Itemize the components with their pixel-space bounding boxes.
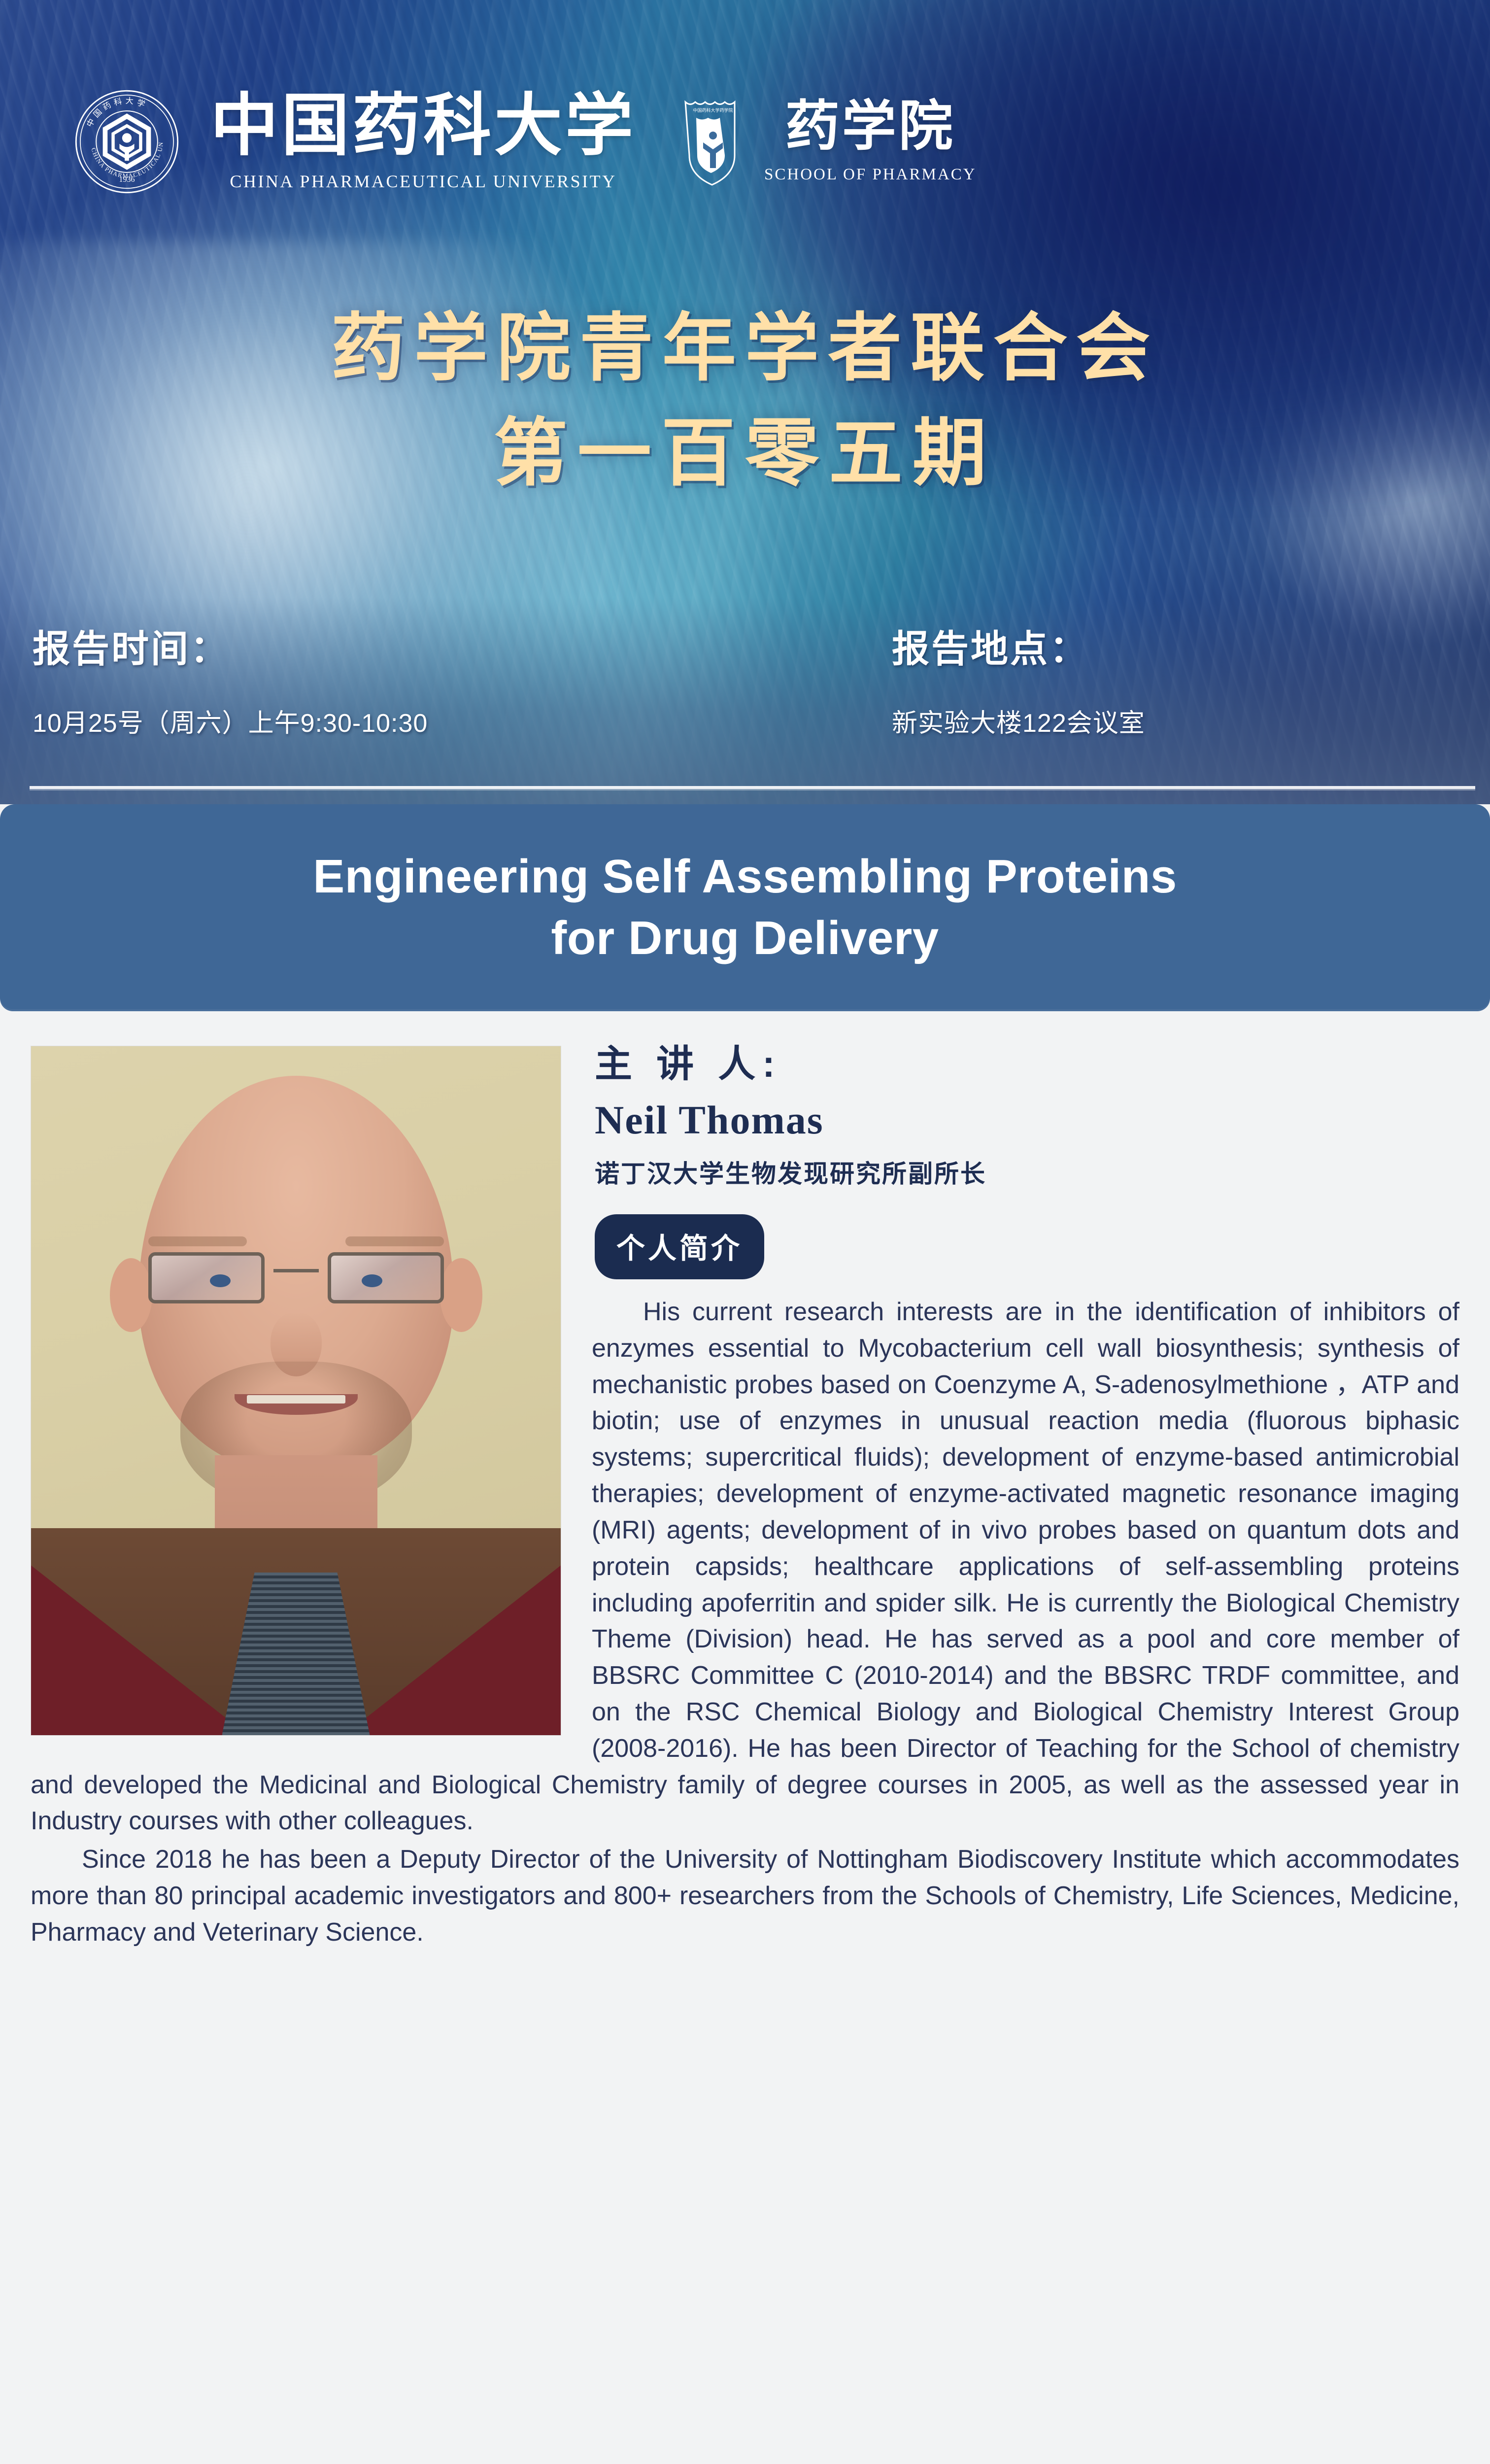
portrait-eye-right	[362, 1274, 382, 1287]
university-name-en: CHINA PHARMACEUTICAL UNIVERSITY	[230, 171, 616, 192]
university-seal-icon: 1936 中 国 药 科 大 学 CHINA PHARMACEUTICAL UN…	[74, 89, 180, 195]
bio-section-badge: 个人简介	[595, 1214, 764, 1279]
university-wordmark: 中国药科大学 CHINA PHARMACEUTICAL UNIVERSITY	[210, 92, 636, 192]
event-place-label: 报告地点：	[892, 618, 1490, 673]
talk-title-line2: for Drug Delivery	[551, 912, 939, 964]
portrait-glasses	[136, 1252, 456, 1305]
series-title-line1: 药学院青年学者联合会	[0, 296, 1490, 401]
event-meta-row: 报告时间： 10月25号（周六）上午9:30-10:30 报告地点： 新实验大楼…	[0, 618, 1490, 739]
school-wordmark: 药学院 SCHOOL OF PHARMACY	[764, 100, 977, 184]
series-title: 药学院青年学者联合会 第一百零五期	[0, 296, 1490, 506]
portrait-lens-right	[328, 1252, 444, 1303]
school-shield-icon: 中国药科大学药学院	[683, 97, 743, 187]
event-place-block: 报告地点： 新实验大楼122会议室	[0, 618, 1490, 739]
school-name-cn: 药学院	[785, 100, 955, 154]
speaker-role-label: 主 讲 人:	[595, 1045, 1459, 1084]
bio-paragraph-2: Since 2018 he has been a Deputy Director…	[31, 1842, 1459, 1951]
header-divider	[30, 786, 1475, 789]
talk-title-line1: Engineering Self Assembling Proteins	[313, 850, 1177, 903]
portrait-teeth	[247, 1395, 345, 1403]
portrait-lens-left	[148, 1252, 265, 1303]
speaker-name: Neil Thomas	[595, 1099, 1459, 1141]
hero-header: 1936 中 国 药 科 大 学 CHINA PHARMACEUTICAL UN…	[0, 0, 1490, 804]
school-name-en: SCHOOL OF PHARMACY	[764, 166, 977, 184]
speaker-portrait	[31, 1046, 561, 1736]
portrait-brow-right	[345, 1236, 444, 1246]
shield-inner-label: 中国药科大学药学院	[693, 107, 733, 113]
speaker-affiliation: 诺丁汉大学生物发现研究所副所长	[595, 1159, 1459, 1189]
portrait-eye-left	[210, 1274, 231, 1287]
logo-row: 1936 中 国 药 科 大 学 CHINA PHARMACEUTICAL UN…	[74, 89, 977, 195]
content-area: 主 讲 人: Neil Thomas 诺丁汉大学生物发现研究所副所长 个人简介 …	[0, 1011, 1490, 2012]
speaker-info: 主 讲 人: Neil Thomas 诺丁汉大学生物发现研究所副所长 个人简介	[592, 1041, 1459, 1279]
portrait-brow-left	[148, 1236, 247, 1246]
seminar-poster: 1936 中 国 药 科 大 学 CHINA PHARMACEUTICAL UN…	[0, 0, 1490, 2464]
talk-title-banner: Engineering Self Assembling Proteins for…	[0, 804, 1490, 1011]
series-title-line2: 第一百零五期	[0, 401, 1490, 506]
university-name-cn: 中国药科大学	[210, 92, 636, 160]
talk-title: Engineering Self Assembling Proteins for…	[254, 846, 1236, 969]
event-place-value: 新实验大楼122会议室	[892, 702, 1490, 739]
portrait-glasses-bridge	[273, 1269, 319, 1272]
